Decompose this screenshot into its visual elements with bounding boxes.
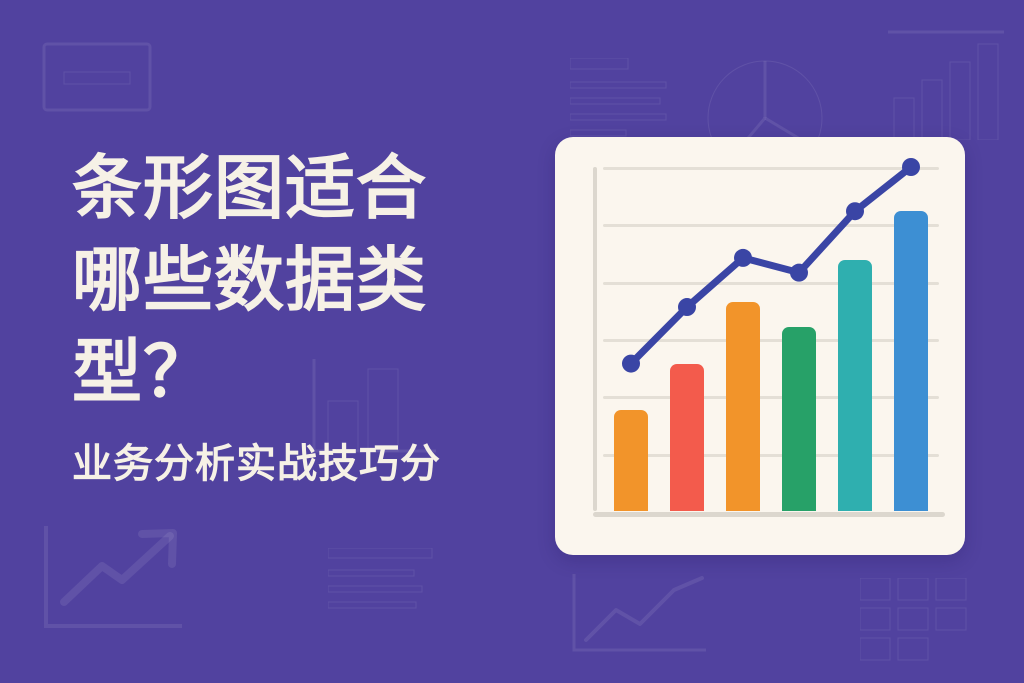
trend-marker-2 (678, 298, 696, 316)
chart-card (555, 137, 965, 555)
text-lines-top-center-icon (570, 58, 670, 144)
chart-plot-area (603, 167, 939, 511)
headline-line-2: 哪些数据类 (72, 234, 542, 326)
text-lines-bottom-left-icon (328, 548, 436, 620)
trend-marker-5 (846, 202, 864, 220)
headline-line-3: 型？ (72, 326, 542, 418)
trend-marker-1 (622, 355, 640, 373)
trend-marker-4 (790, 264, 808, 282)
y-axis (593, 167, 597, 511)
line-chart-bottom-left-icon (42, 522, 187, 632)
subtitle: 业务分析实战技巧分 (72, 440, 542, 488)
headline-block: 条形图适合 哪些数据类 型？ 业务分析实战技巧分 (72, 142, 542, 488)
headline-line-1: 条形图适合 (72, 142, 542, 234)
rect-badge-top-left-icon (42, 42, 152, 112)
trend-line-series (603, 167, 939, 511)
poster-canvas: 条形图适合 哪些数据类 型？ 业务分析实战技巧分 (0, 0, 1024, 683)
trend-marker-6 (902, 158, 920, 176)
x-axis (593, 512, 945, 517)
grid-table-bottom-right-icon (860, 578, 980, 683)
trend-marker-3 (734, 249, 752, 267)
bar-chart-top-right-icon (886, 30, 1006, 140)
line-chart-bottom-right-icon (570, 570, 710, 660)
trend-polyline (631, 167, 911, 364)
